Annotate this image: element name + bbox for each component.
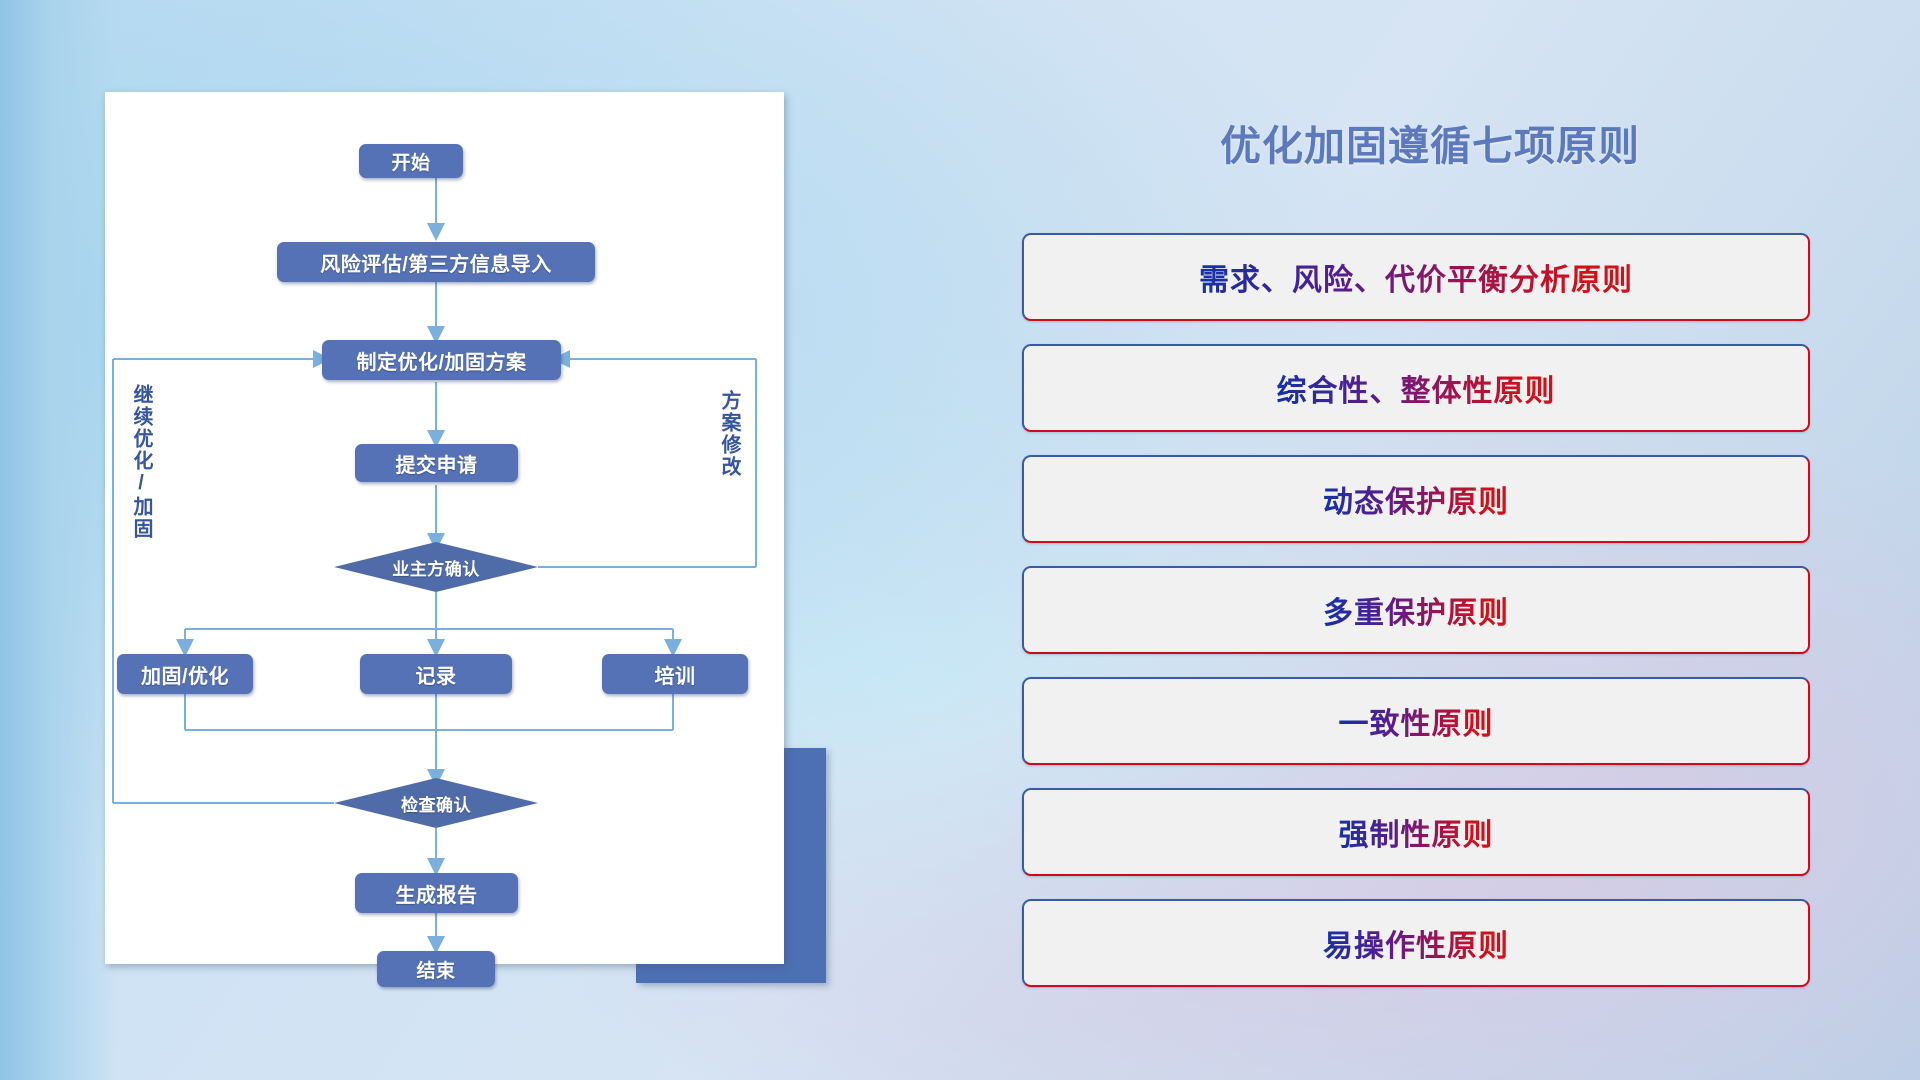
principle-item-6[interactable]: 强制性原则	[1022, 788, 1810, 876]
flow-node-label: 检查确认	[401, 791, 471, 816]
edge-label-continue-optimize: 继续优化/加固	[127, 384, 156, 540]
edge-label-plan-revision: 方案修改	[715, 390, 744, 478]
principle-label: 一致性原则	[1339, 699, 1494, 743]
principle-label: 强制性原则	[1339, 810, 1494, 854]
principle-item-4[interactable]: 多重保护原则	[1022, 566, 1810, 654]
principle-item-1[interactable]: 需求、风险、代价平衡分析原则	[1022, 233, 1810, 321]
flowchart-card: 开始 风险评估/第三方信息导入 制定优化/加固方案 提交申请 业主方确认	[105, 92, 784, 964]
principle-label: 易操作性原则	[1323, 921, 1509, 965]
flow-node-owner-confirmation[interactable]: 业主方确认	[334, 542, 538, 592]
flow-node-label: 培训	[655, 660, 696, 689]
flow-node-generate-report[interactable]: 生成报告	[355, 873, 518, 913]
principle-label: 多重保护原则	[1323, 588, 1509, 632]
flow-node-label: 加固/优化	[141, 660, 229, 689]
flow-node-label: 业主方确认	[392, 555, 480, 580]
principle-item-2[interactable]: 综合性、整体性原则	[1022, 344, 1810, 432]
principle-label: 需求、风险、代价平衡分析原则	[1199, 255, 1633, 299]
flow-node-label: 风险评估/第三方信息导入	[320, 248, 552, 277]
principle-label: 综合性、整体性原则	[1277, 366, 1556, 410]
flow-node-label: 制定优化/加固方案	[356, 346, 526, 375]
principle-item-5[interactable]: 一致性原则	[1022, 677, 1810, 765]
flow-node-label: 提交申请	[396, 449, 478, 478]
flowchart-canvas: 开始 风险评估/第三方信息导入 制定优化/加固方案 提交申请 业主方确认	[105, 92, 784, 964]
flow-node-label: 生成报告	[396, 879, 478, 908]
flow-node-label: 记录	[416, 660, 457, 689]
flow-node-submit-application[interactable]: 提交申请	[355, 444, 518, 482]
flow-node-label: 结束	[416, 956, 455, 983]
flow-node-make-plan[interactable]: 制定优化/加固方案	[322, 340, 561, 380]
principle-item-7[interactable]: 易操作性原则	[1022, 899, 1810, 987]
page-title: 优化加固遵循七项原则	[1150, 112, 1710, 172]
flow-node-record[interactable]: 记录	[360, 654, 512, 694]
flow-node-risk-assessment[interactable]: 风险评估/第三方信息导入	[277, 242, 595, 282]
principle-label: 动态保护原则	[1323, 477, 1509, 521]
slide-background: 开始 风险评估/第三方信息导入 制定优化/加固方案 提交申请 业主方确认	[0, 0, 1920, 1080]
flow-node-reinforce-optimize[interactable]: 加固/优化	[117, 654, 253, 694]
principle-item-3[interactable]: 动态保护原则	[1022, 455, 1810, 543]
flow-node-check-confirmation[interactable]: 检查确认	[334, 778, 538, 828]
flow-node-training[interactable]: 培训	[602, 654, 748, 694]
flow-node-start[interactable]: 开始	[359, 144, 463, 178]
flow-node-end[interactable]: 结束	[377, 951, 495, 987]
flowchart-connectors	[105, 92, 784, 964]
flow-node-label: 开始	[391, 148, 430, 175]
